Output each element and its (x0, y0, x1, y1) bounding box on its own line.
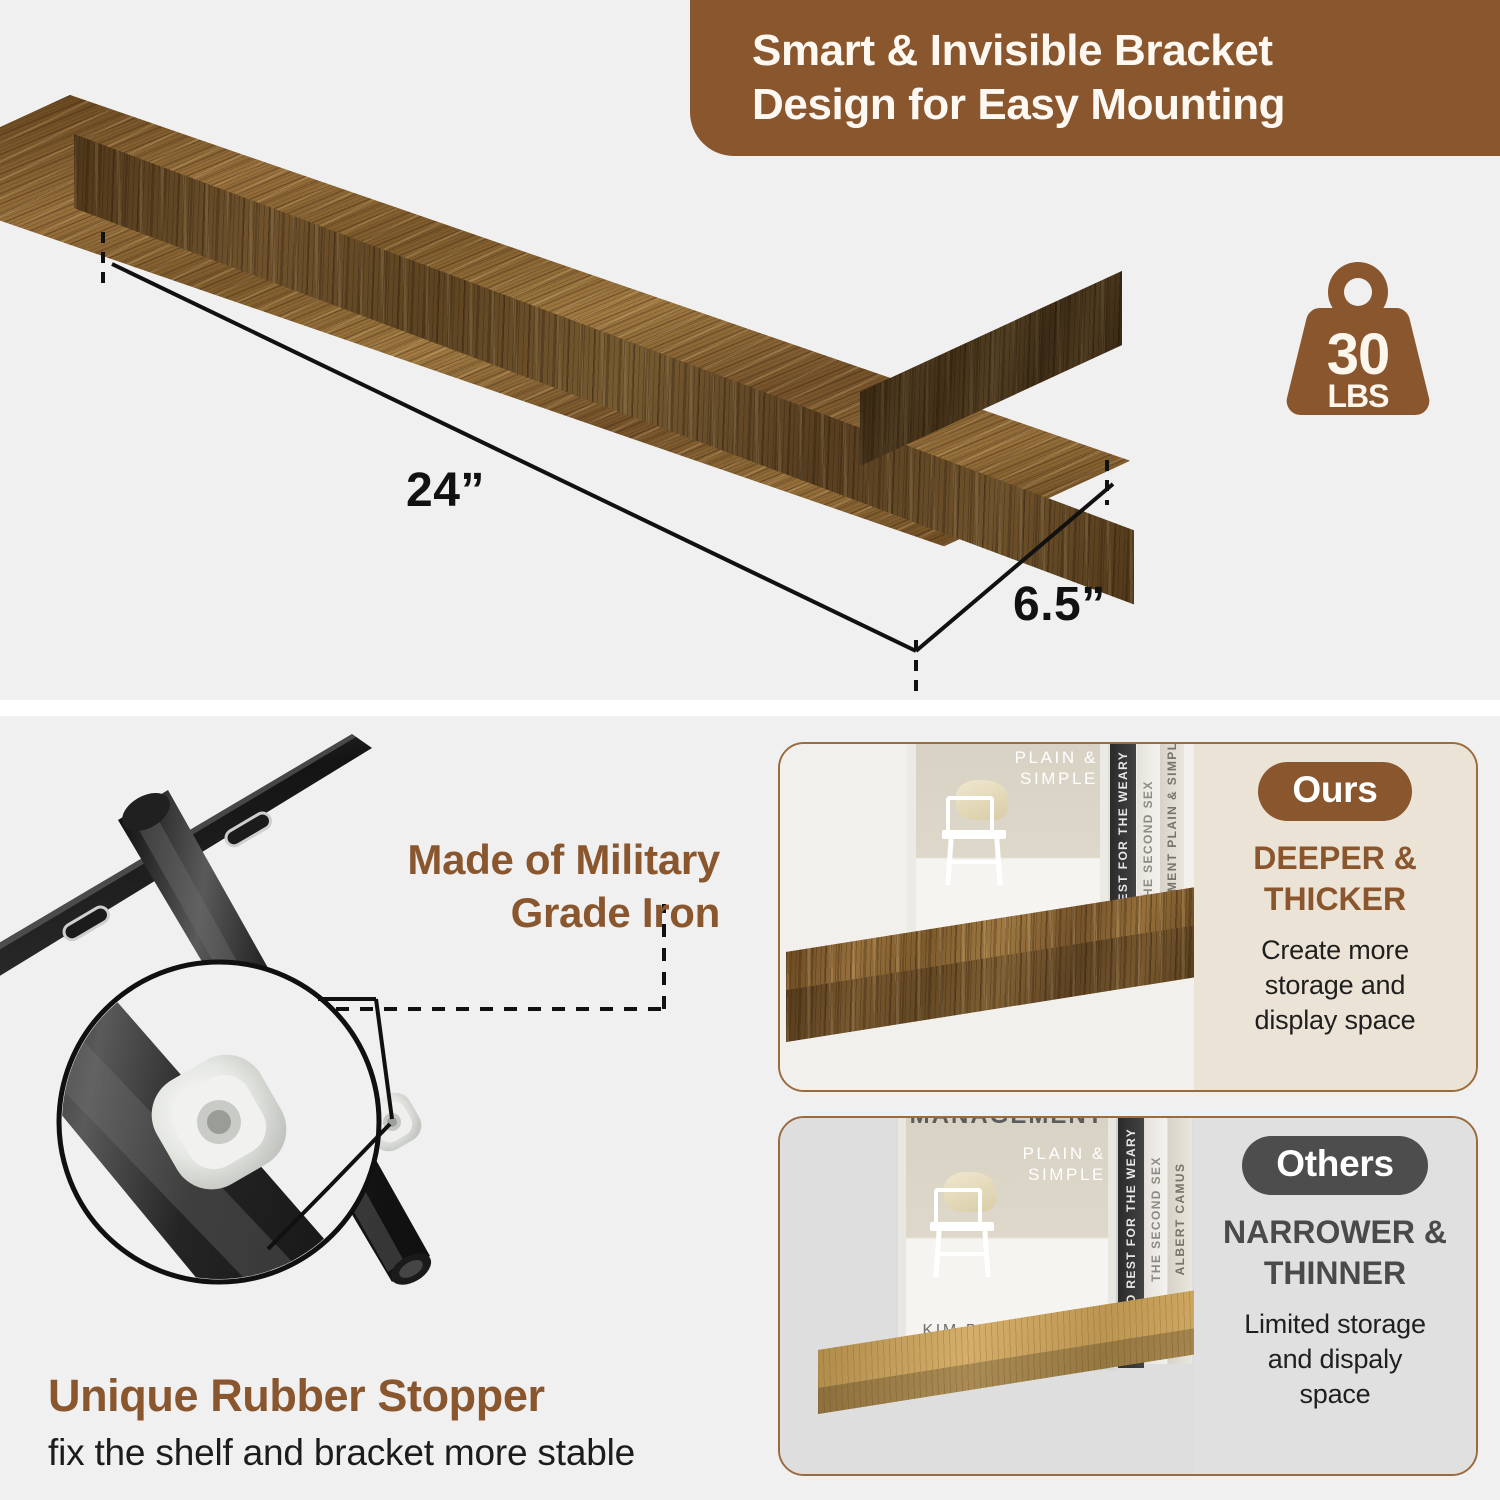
others-description-line3: space (1244, 1377, 1426, 1412)
others-spine-3-text: ALBERT CAMUS (1173, 1163, 1187, 1276)
chair-seat (930, 1222, 994, 1231)
others-book-title-line1: PLAIN & (1023, 1144, 1106, 1165)
chair-rail (948, 860, 1000, 864)
military-iron-title-line2: Grade Iron (280, 887, 720, 940)
ours-book-title-line2: SIMPLE (1015, 769, 1098, 790)
length-dimension-label: 24” (406, 463, 485, 518)
ours-product-photo: PLAIN & SIMPLE KIM BRENNEMAN NO REST FOR… (780, 744, 1198, 1090)
others-description: Limited storage and dispaly space (1244, 1307, 1426, 1412)
others-description-line2: and dispaly (1244, 1342, 1426, 1377)
others-spine-2-text: THE SECOND SEX (1149, 1156, 1163, 1282)
ours-info-column: Ours DEEPER & THICKER Create more storag… (1194, 744, 1476, 1090)
others-product-photo: MANAGEMENT PLAIN & SIMPLE KIM BRENNEMAN … (780, 1118, 1198, 1474)
header-banner: Smart & Invisible Bracket Design for Eas… (690, 0, 1500, 156)
measure-line-length (112, 264, 916, 651)
ours-description-line3: display space (1255, 1003, 1416, 1038)
header-title-line2: Design for Easy Mounting (752, 78, 1500, 132)
ours-shelf-block (786, 952, 1198, 1052)
comparison-panel-ours: PLAIN & SIMPLE KIM BRENNEMAN NO REST FOR… (778, 742, 1478, 1092)
features-comparison-section: Made of Military Grade Iron Unique Rubbe… (0, 716, 1500, 1500)
weight-capacity-badge: 30 LBS (1282, 258, 1434, 420)
ours-heading: DEEPER & THICKER (1253, 838, 1417, 920)
others-info-column: Others NARROWER & THINNER Limited storag… (1194, 1118, 1476, 1474)
military-iron-title-line1: Made of Military (280, 834, 720, 887)
ours-heading-line1: DEEPER & (1253, 838, 1417, 879)
magnifier-circle-icon (0, 934, 470, 1416)
chair-back (934, 1188, 982, 1224)
ours-spine-2-text: THE SECOND SEX (1141, 780, 1155, 906)
ours-description-line2: storage and (1255, 968, 1416, 1003)
comparison-panel-others: MANAGEMENT PLAIN & SIMPLE KIM BRENNEMAN … (778, 1116, 1478, 1476)
ours-book-title-line1: PLAIN & (1015, 748, 1098, 769)
header-title-line1: Smart & Invisible Bracket (752, 24, 1500, 78)
bracket-svg (0, 716, 760, 1416)
others-book-top-title: MANAGEMENT (898, 1118, 1116, 1130)
others-description-line1: Limited storage (1244, 1307, 1426, 1342)
weight-value: 30 (1282, 326, 1434, 384)
caption-subtitle: fix the shelf and bracket more stable (48, 1432, 748, 1474)
bracket-illustration: Made of Military Grade Iron (0, 716, 760, 1416)
others-book-title: PLAIN & SIMPLE (1023, 1144, 1106, 1185)
ours-book-title: PLAIN & SIMPLE (1015, 748, 1098, 789)
others-heading-line1: NARROWER & (1223, 1212, 1447, 1253)
chair-back (946, 796, 994, 832)
others-spine-1-text: NO REST FOR THE WEARY (1124, 1128, 1138, 1314)
product-dimension-section: 24” 6.5” 30 LBS Smart & Invisible Bracke… (0, 0, 1500, 700)
weight-unit: LBS (1282, 380, 1434, 412)
others-badge: Others (1242, 1136, 1427, 1195)
depth-dimension-label: 6.5” (1013, 577, 1106, 632)
ours-heading-line2: THICKER (1253, 879, 1417, 920)
rubber-stopper-caption: Unique Rubber Stopper fix the shelf and … (48, 1370, 748, 1474)
others-book-title-line2: SIMPLE (1023, 1165, 1106, 1186)
others-heading-line2: THINNER (1223, 1253, 1447, 1294)
ours-description-line1: Create more (1255, 933, 1416, 968)
caption-title: Unique Rubber Stopper (48, 1370, 748, 1422)
chair-rail (936, 1252, 988, 1256)
military-iron-title: Made of Military Grade Iron (280, 834, 720, 940)
chair-seat (942, 830, 1006, 839)
ours-badge: Ours (1258, 762, 1411, 821)
ours-description: Create more storage and display space (1255, 933, 1416, 1038)
others-heading: NARROWER & THINNER (1223, 1212, 1447, 1294)
others-shelf-block (818, 1350, 1198, 1422)
